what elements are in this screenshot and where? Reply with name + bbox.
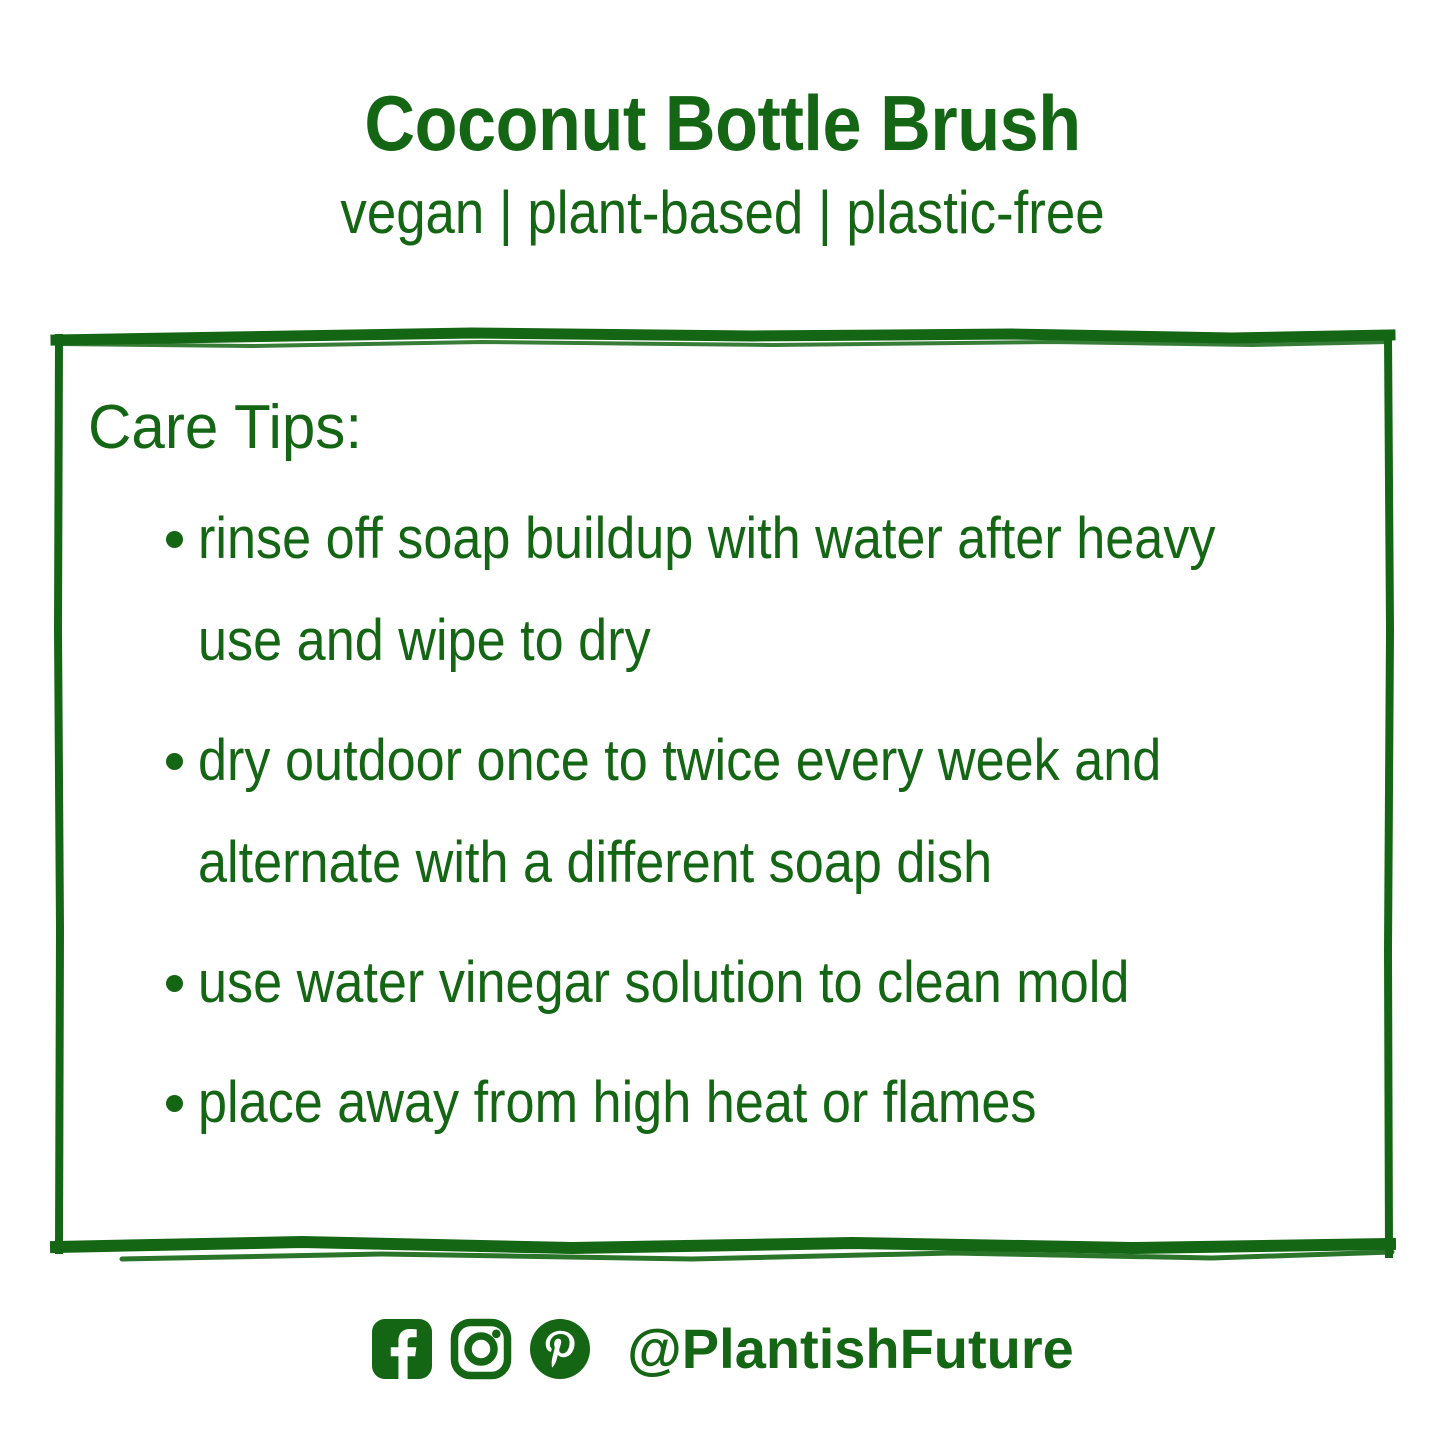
page-title: Coconut Bottle Brush (72, 78, 1373, 168)
social-handle: @PlantishFuture (627, 1318, 1074, 1380)
care-tips-content: Care Tips: rinse off soap buildup with w… (88, 392, 1378, 1154)
list-item-label: rinse off soap buildup with water after … (198, 488, 1260, 692)
pinterest-icon[interactable] (529, 1318, 591, 1380)
list-item: rinse off soap buildup with water after … (88, 488, 1378, 692)
page-subtitle: vegan | plant-based | plastic-free (87, 178, 1359, 248)
list-item-label: dry outdoor once to twice every week and… (198, 710, 1260, 914)
product-care-card: Coconut Bottle Brush vegan | plant-based… (0, 0, 1445, 1445)
list-item: dry outdoor once to twice every week and… (88, 710, 1378, 914)
care-tips-heading: Care Tips: (88, 392, 1339, 464)
list-item-label: use water vinegar solution to clean mold (198, 932, 1260, 1034)
care-tips-box: Care Tips: rinse off soap buildup with w… (52, 330, 1394, 1260)
list-item: place away from high heat or flames (88, 1052, 1378, 1154)
list-item: use water vinegar solution to clean mold (88, 932, 1378, 1034)
instagram-icon[interactable] (450, 1318, 512, 1380)
list-item-label: place away from high heat or flames (198, 1052, 1260, 1154)
bullet-icon (166, 531, 183, 548)
bullet-icon (166, 975, 183, 992)
card-footer: @PlantishFuture (0, 1318, 1445, 1380)
bullet-icon (166, 1095, 183, 1112)
care-tips-list: rinse off soap buildup with water after … (88, 488, 1378, 1154)
bullet-icon (166, 753, 183, 770)
card-header: Coconut Bottle Brush vegan | plant-based… (0, 78, 1445, 248)
facebook-icon[interactable] (371, 1318, 433, 1380)
social-icons-group (371, 1318, 591, 1380)
